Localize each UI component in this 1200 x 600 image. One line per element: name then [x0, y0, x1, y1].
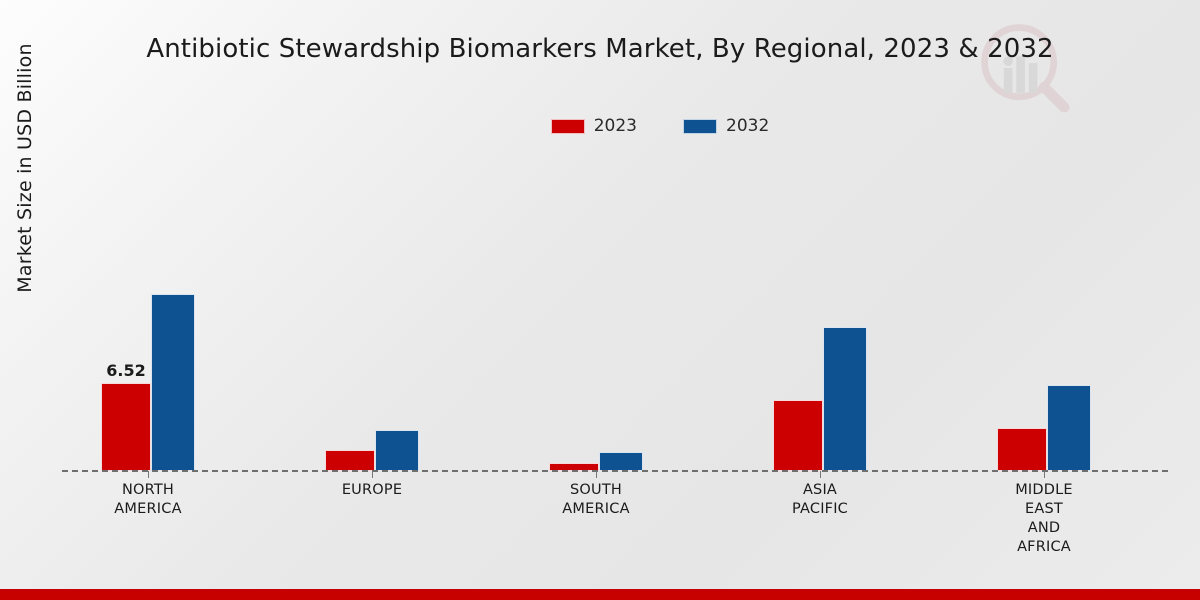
bar-2032-europe[interactable]	[375, 430, 419, 471]
legend-item-2023[interactable]: 2023	[551, 118, 637, 135]
x-tick-group: SOUTHAMERICA	[486, 471, 706, 519]
x-tick-mark	[820, 471, 821, 478]
bar-group-inner	[934, 160, 1154, 471]
x-tick-group: MIDDLEEASTANDAFRICA	[934, 471, 1154, 557]
x-tick-group: NORTHAMERICA	[38, 471, 258, 519]
bar-group: 6.52	[38, 160, 258, 471]
x-category-label: NORTHAMERICA	[38, 481, 258, 519]
legend-swatch-2023-icon	[551, 119, 585, 134]
bottom-accent-strip	[0, 589, 1200, 600]
legend-label-2023: 2023	[594, 118, 637, 135]
bar-2023-north-america[interactable]: 6.52	[101, 383, 151, 471]
x-category-label: ASIAPACIFIC	[710, 481, 930, 519]
x-tick-mark	[596, 471, 597, 478]
bar-group	[262, 160, 482, 471]
bar-group-inner	[710, 160, 930, 471]
x-category-label: MIDDLEEASTANDAFRICA	[934, 481, 1154, 557]
x-category-label-line: AMERICA	[38, 500, 258, 519]
x-category-label-line: AMERICA	[486, 500, 706, 519]
bars-layer: 6.52	[38, 160, 1168, 471]
bar-group-inner	[262, 160, 482, 471]
chart-container: Antibiotic Stewardship Biomarkers Market…	[0, 0, 1200, 600]
x-category-label: SOUTHAMERICA	[486, 481, 706, 519]
bar-group	[934, 160, 1154, 471]
x-category-label: EUROPE	[262, 481, 482, 500]
x-category-label-line: NORTH	[38, 481, 258, 500]
bar-group	[710, 160, 930, 471]
x-category-label-line: PACIFIC	[710, 500, 930, 519]
bar-group-inner	[486, 160, 706, 471]
bar-2023-middle-east-and-africa[interactable]	[997, 428, 1047, 471]
x-tick-group: EUROPE	[262, 471, 482, 500]
x-category-label-line: MIDDLE	[934, 481, 1154, 500]
x-category-label-line: EUROPE	[262, 481, 482, 500]
bar-2023-asia-pacific[interactable]	[773, 400, 823, 471]
bar-2032-north-america[interactable]	[151, 294, 195, 471]
x-tick-group: ASIAPACIFIC	[710, 471, 930, 519]
x-tick-mark	[1044, 471, 1045, 478]
bar-group	[486, 160, 706, 471]
x-axis-labels: NORTHAMERICAEUROPESOUTHAMERICAASIAPACIFI…	[38, 471, 1168, 571]
chart-title: Antibiotic Stewardship Biomarkers Market…	[0, 34, 1200, 64]
x-category-label-line: ASIA	[710, 481, 930, 500]
x-category-label-line: EAST	[934, 500, 1154, 519]
x-category-label-line: SOUTH	[486, 481, 706, 500]
legend-item-2032[interactable]: 2032	[683, 118, 769, 135]
plot-area: 6.52	[38, 160, 1168, 472]
bar-2023-europe[interactable]	[325, 450, 375, 471]
chart-legend: 2023 2032	[0, 118, 1200, 135]
bar-group-inner: 6.52	[38, 160, 258, 471]
x-tick-mark	[372, 471, 373, 478]
bar-value-label: 6.52	[106, 361, 145, 380]
x-category-label-line: AFRICA	[934, 538, 1154, 557]
legend-label-2032: 2032	[726, 118, 769, 135]
bar-2032-asia-pacific[interactable]	[823, 327, 867, 471]
legend-swatch-2032-icon	[683, 119, 717, 134]
watermark-logo-icon	[975, 18, 1071, 114]
x-tick-mark	[148, 471, 149, 478]
bar-2032-south-america[interactable]	[599, 452, 643, 471]
x-category-label-line: AND	[934, 519, 1154, 538]
bar-2032-middle-east-and-africa[interactable]	[1047, 385, 1091, 471]
y-axis-title: Market Size in USD Billion	[14, 0, 40, 343]
